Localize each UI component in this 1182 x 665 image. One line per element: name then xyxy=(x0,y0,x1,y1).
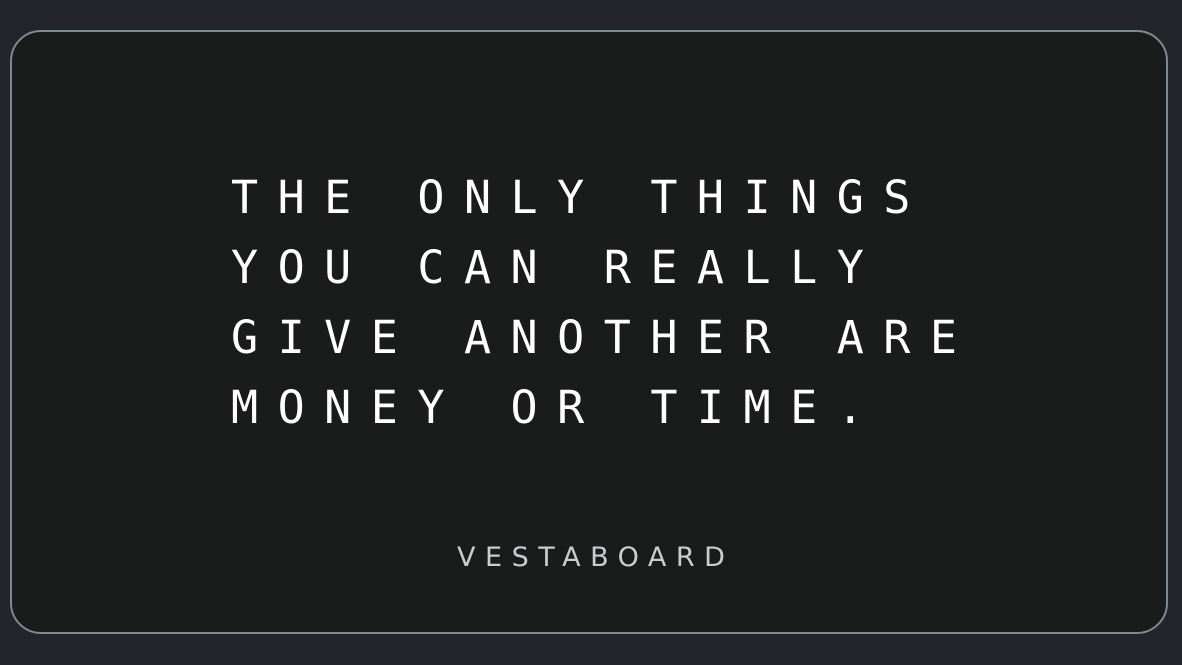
quote-line-2: YOU CAN REALLY xyxy=(231,233,1111,303)
screen: THE ONLY THINGS YOU CAN REALLY GIVE ANOT… xyxy=(0,0,1182,665)
quote-line-3: GIVE ANOTHER ARE xyxy=(231,303,1111,373)
quote-line-4: MONEY OR TIME. xyxy=(231,373,1111,443)
vestaboard-wordmark: VESTABOARD xyxy=(448,541,735,575)
quote-block: THE ONLY THINGS YOU CAN REALLY GIVE ANOT… xyxy=(231,163,1111,443)
vestaboard-panel: THE ONLY THINGS YOU CAN REALLY GIVE ANOT… xyxy=(10,30,1168,634)
brand-row: VESTABOARD xyxy=(12,541,1168,575)
quote-line-1: THE ONLY THINGS xyxy=(231,163,1111,233)
